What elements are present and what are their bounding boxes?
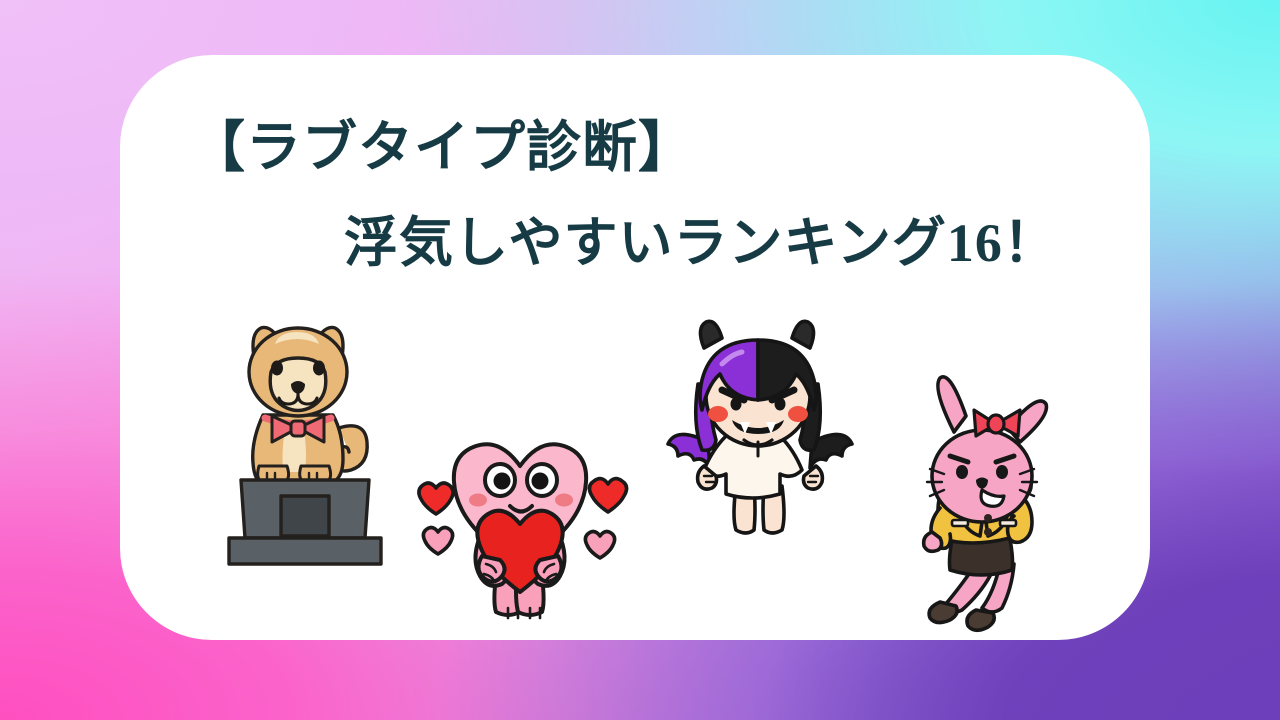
dog-statue-illustration: [215, 310, 395, 570]
page-title-line-2: 浮気しやすいランキング16！: [344, 214, 1058, 273]
thumbnail-canvas: 【ラブタイプ診断】 浮気しやすいランキング16！: [0, 0, 1280, 720]
rabbit-office-lady-illustration: [896, 368, 1074, 650]
devil-girl-illustration: [660, 318, 862, 540]
mini-heart-pink-right: [585, 532, 614, 558]
mini-heart-pink-left: [423, 528, 452, 554]
mini-heart-red-right: [589, 479, 626, 512]
mini-heart-red-left: [419, 483, 453, 514]
page-title-line-1: 【ラブタイプ診断】: [190, 118, 694, 179]
heart-character-illustration: [412, 412, 648, 638]
